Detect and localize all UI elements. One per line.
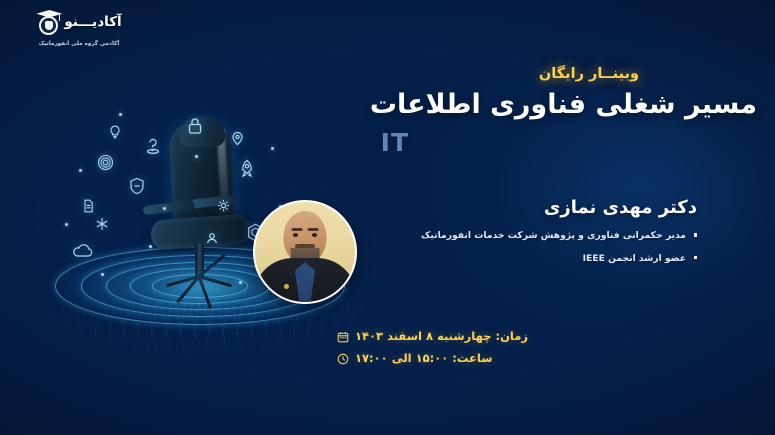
shield-icon (129, 177, 145, 195)
speaker-credentials: مدیر حکمرانی فناوری و پژوهش شرکت خدمات ا… (337, 228, 697, 265)
bullet-marker (694, 256, 698, 260)
webinar-kicker: وبینــار رایگان (539, 66, 639, 82)
brand-logo-row: آکادیـــنو (36, 8, 121, 38)
event-time-row: ساعت: ۱۵:۰۰ الی ۱۷:۰۰ (337, 348, 697, 370)
cloud-icon (71, 243, 95, 259)
page-title-en: IT (381, 128, 409, 157)
brand-logo[interactable]: آکادیـــنو آکادمی گروه ملی انفورماتیک (14, 8, 144, 54)
graduation-cap-icon (36, 10, 62, 36)
gear-icon (217, 199, 230, 212)
idea-bulb-icon (109, 125, 121, 139)
calendar-icon (337, 331, 349, 343)
credential-text: عضو ارشد انجمن IEEE (583, 253, 686, 264)
avatar (253, 200, 357, 304)
clock-icon (337, 353, 349, 365)
fingerprint-icon (97, 153, 114, 172)
bullet-marker (694, 233, 698, 237)
credential-text: مدیر حکمرانی فناوری و پژوهش شرکت خدمات ا… (421, 230, 686, 241)
event-date: زمان: چهارشنبه ۸ اسفند ۱۴۰۳ (355, 326, 528, 348)
speaker-name: دکتر مهدی نمازی (337, 196, 697, 219)
brand-name: آکادیـــنو (64, 16, 121, 30)
speaker-block: دکتر مهدی نمازی مدیر حکمرانی فناوری و پژ… (337, 196, 697, 273)
snowflake-icon (95, 217, 109, 231)
list-item: مدیر حکمرانی فناوری و پژوهش شرکت خدمات ا… (337, 228, 697, 243)
lock-icon (187, 117, 203, 135)
event-date-row: زمان: چهارشنبه ۸ اسفند ۱۴۰۳ (337, 326, 697, 348)
user-badge-icon (205, 231, 219, 245)
event-meta: زمان: چهارشنبه ۸ اسفند ۱۴۰۳ ساعت: ۱۵:۰۰ … (337, 326, 697, 370)
webinar-poster: آکادیـــنو آکادمی گروه ملی انفورماتیک (0, 0, 775, 435)
question-mark-icon (145, 137, 161, 155)
poster-content: وبینــار رایگان مسیر شغلی فناوری اطلاعات… (237, 0, 757, 435)
brand-tagline: آکادمی گروه ملی انفورماتیک (39, 41, 119, 47)
event-time: ساعت: ۱۵:۰۰ الی ۱۷:۰۰ (355, 348, 493, 370)
document-icon (83, 199, 94, 213)
list-item: عضو ارشد انجمن IEEE (337, 251, 697, 266)
page-title: مسیر شغلی فناوری اطلاعات (237, 88, 757, 122)
